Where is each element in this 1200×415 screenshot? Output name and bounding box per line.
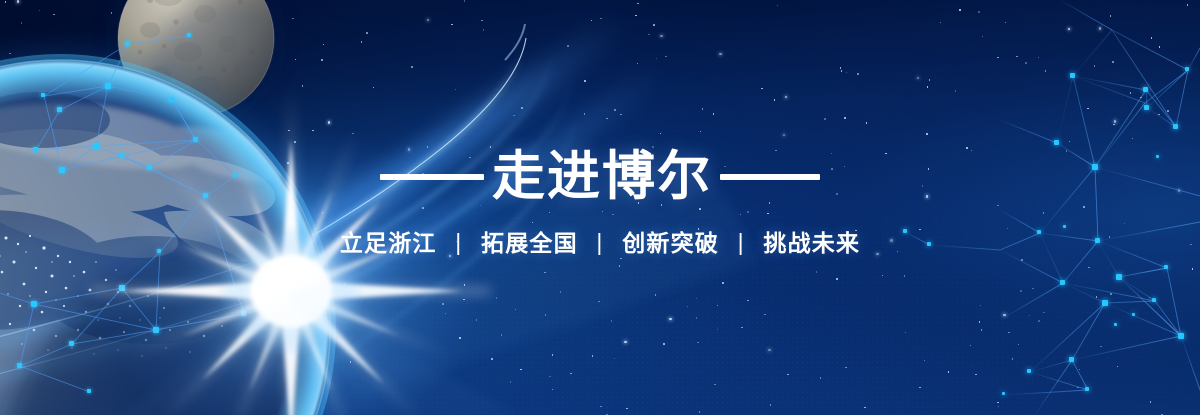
- subtitle-item-4: 挑战未来: [763, 230, 860, 256]
- title-dash-right-icon: [720, 174, 820, 180]
- subtitle-separator-1: |: [455, 229, 462, 256]
- subtitle-separator-3: |: [738, 229, 745, 256]
- hero-banner: 走进博尔 立足浙江 | 拓展全国 | 创新突破 | 挑战未来: [0, 0, 1200, 415]
- title-dash-left-icon: [380, 174, 484, 180]
- subtitle-item-2: 拓展全国: [481, 230, 578, 256]
- subtitle-item-1: 立足浙江: [340, 230, 437, 256]
- banner-title: 走进博尔: [492, 150, 712, 204]
- subtitle-item-3: 创新突破: [622, 230, 719, 256]
- banner-title-row: 走进博尔: [0, 150, 1200, 204]
- banner-text-block: 走进博尔 立足浙江 | 拓展全国 | 创新突破 | 挑战未来: [0, 150, 1200, 258]
- subtitle-separator-2: |: [596, 229, 603, 256]
- banner-subtitle: 立足浙江 | 拓展全国 | 创新突破 | 挑战未来: [0, 224, 1200, 258]
